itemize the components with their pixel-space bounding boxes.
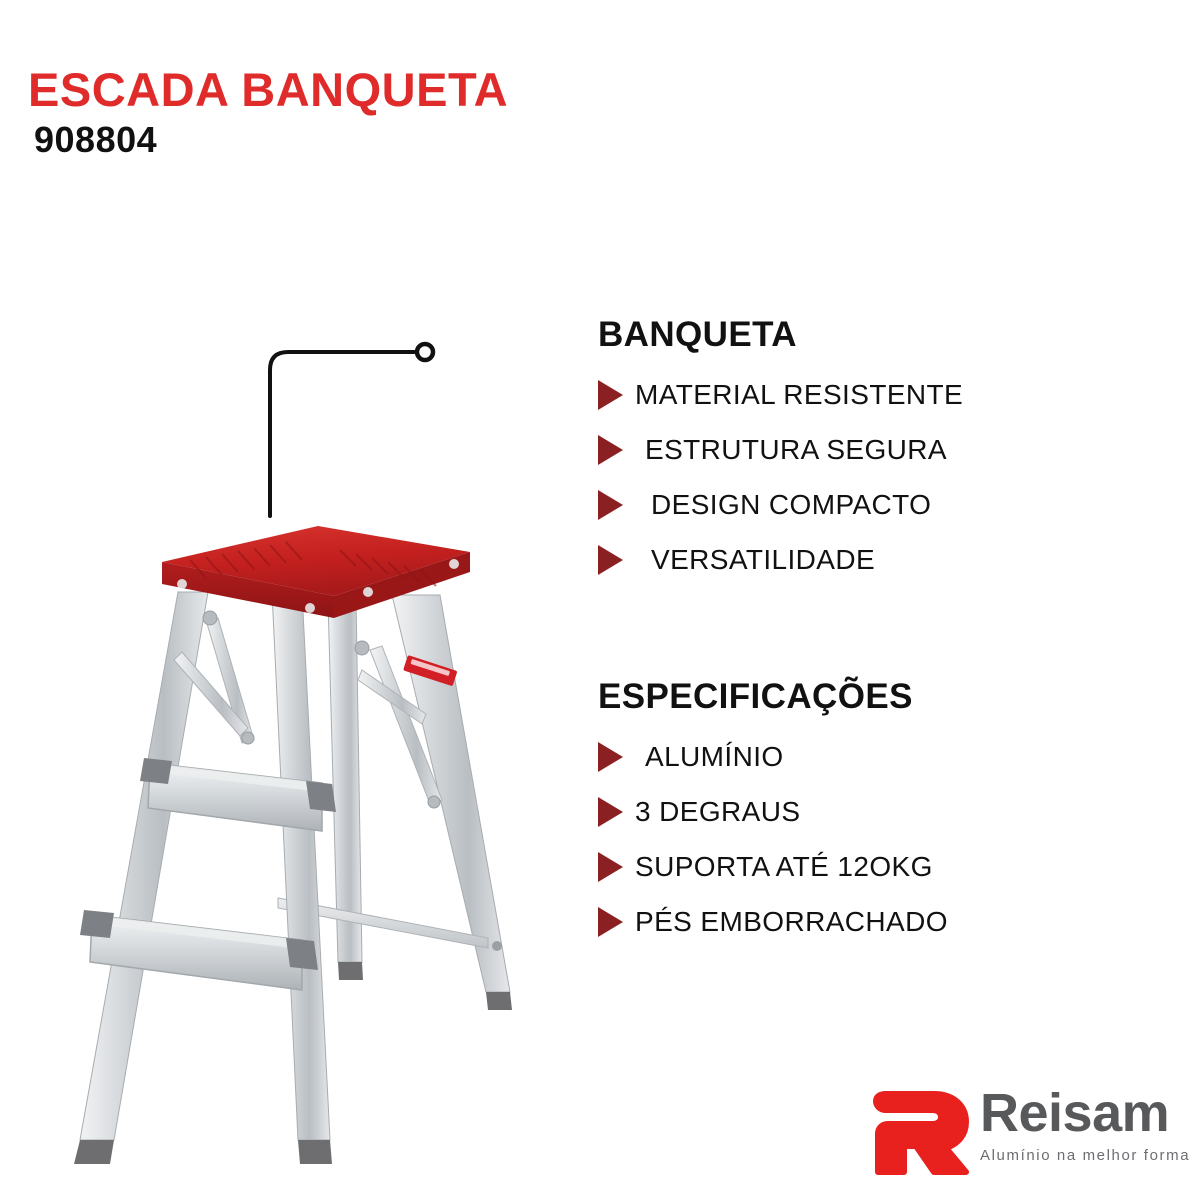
seat-rivet-3 — [363, 587, 373, 597]
list-item: MATERIAL RESISTENTE — [598, 371, 1118, 419]
spec-label: 3 DEGRAUS — [635, 796, 800, 828]
list-item: ESTRUTURA SEGURA — [598, 426, 1118, 474]
brace-rivet-bottom — [428, 796, 440, 808]
seat-rivet-4 — [449, 559, 459, 569]
logo-wordmark: Reisam — [980, 1086, 1190, 1140]
specifications-block: ESPECIFICAÇÕES ALUMÍNIO 3 DEGRAUS SUPORT… — [598, 678, 1118, 953]
header: ESCADA BANQUETA 908804 — [28, 66, 648, 158]
brace-rivet-top — [355, 641, 369, 655]
triangle-bullet-icon — [598, 742, 623, 772]
callout-leader-line — [262, 330, 452, 520]
logo-tagline: Alumínio na melhor forma — [980, 1147, 1190, 1164]
specifications-list: ALUMÍNIO 3 DEGRAUS SUPORTA ATÉ 12OKG PÉS… — [598, 733, 1118, 946]
seat-rivet-1 — [177, 579, 187, 589]
list-item: 3 DEGRAUS — [598, 788, 1118, 836]
spreader-rivet — [492, 941, 502, 951]
list-item: VERSATILIDADE — [598, 536, 1118, 584]
step-bottom-bracket-right — [286, 938, 318, 970]
list-item: DESIGN COMPACTO — [598, 481, 1118, 529]
list-item: PÉS EMBORRACHADO — [598, 898, 1118, 946]
triangle-bullet-icon — [598, 435, 623, 465]
feature-label: MATERIAL RESISTENTE — [635, 379, 963, 411]
front-brace-rivet-top — [203, 611, 217, 625]
back-foot-left — [338, 962, 363, 980]
step-bottom-bracket-left — [80, 910, 114, 938]
triangle-bullet-icon — [598, 490, 623, 520]
logo-r-path — [876, 1094, 966, 1172]
features-heading: BANQUETA — [598, 316, 1118, 355]
triangle-bullet-icon — [598, 907, 623, 937]
leader-line-path — [270, 352, 414, 516]
logo-text-group: Reisam Alumínio na melhor forma — [980, 1082, 1190, 1164]
brand-logo: Reisam Alumínio na melhor forma — [868, 1082, 1180, 1186]
features-list: MATERIAL RESISTENTE ESTRUTURA SEGURA DES… — [598, 371, 1118, 584]
triangle-bullet-icon — [598, 797, 623, 827]
triangle-bullet-icon — [598, 545, 623, 575]
list-item: ALUMÍNIO — [598, 733, 1118, 781]
front-brace-rivet-bottom — [242, 732, 254, 744]
list-item: SUPORTA ATÉ 12OKG — [598, 843, 1118, 891]
specifications-heading: ESPECIFICAÇÕES — [598, 678, 1118, 717]
back-foot-right — [486, 992, 512, 1010]
spec-label: ALUMÍNIO — [645, 741, 784, 773]
back-leg-left — [328, 600, 362, 962]
spec-label: SUPORTA ATÉ 12OKG — [635, 851, 933, 883]
leader-endpoint-circle — [417, 344, 433, 360]
feature-label: ESTRUTURA SEGURA — [645, 434, 947, 466]
page-title: ESCADA BANQUETA — [28, 66, 648, 113]
spec-label: PÉS EMBORRACHADO — [635, 906, 948, 938]
feature-label: DESIGN COMPACTO — [651, 489, 931, 521]
front-foot-left — [74, 1140, 114, 1164]
product-code: 908804 — [34, 122, 648, 158]
triangle-bullet-icon — [598, 852, 623, 882]
features-block: BANQUETA MATERIAL RESISTENTE ESTRUTURA S… — [598, 316, 1118, 591]
front-leg-right — [272, 592, 330, 1140]
feature-label: VERSATILIDADE — [651, 544, 875, 576]
triangle-bullet-icon — [598, 380, 623, 410]
step-middle-bracket-left — [140, 758, 172, 784]
product-infographic-page: ESCADA BANQUETA 908804 — [0, 0, 1200, 1200]
step-middle-bracket-right — [306, 781, 336, 812]
front-legs — [74, 592, 332, 1164]
front-foot-right — [298, 1140, 332, 1164]
seat-rivet-2 — [305, 603, 315, 613]
reisam-r-mark-icon — [868, 1082, 972, 1178]
product-image-step-stool — [10, 500, 550, 1190]
